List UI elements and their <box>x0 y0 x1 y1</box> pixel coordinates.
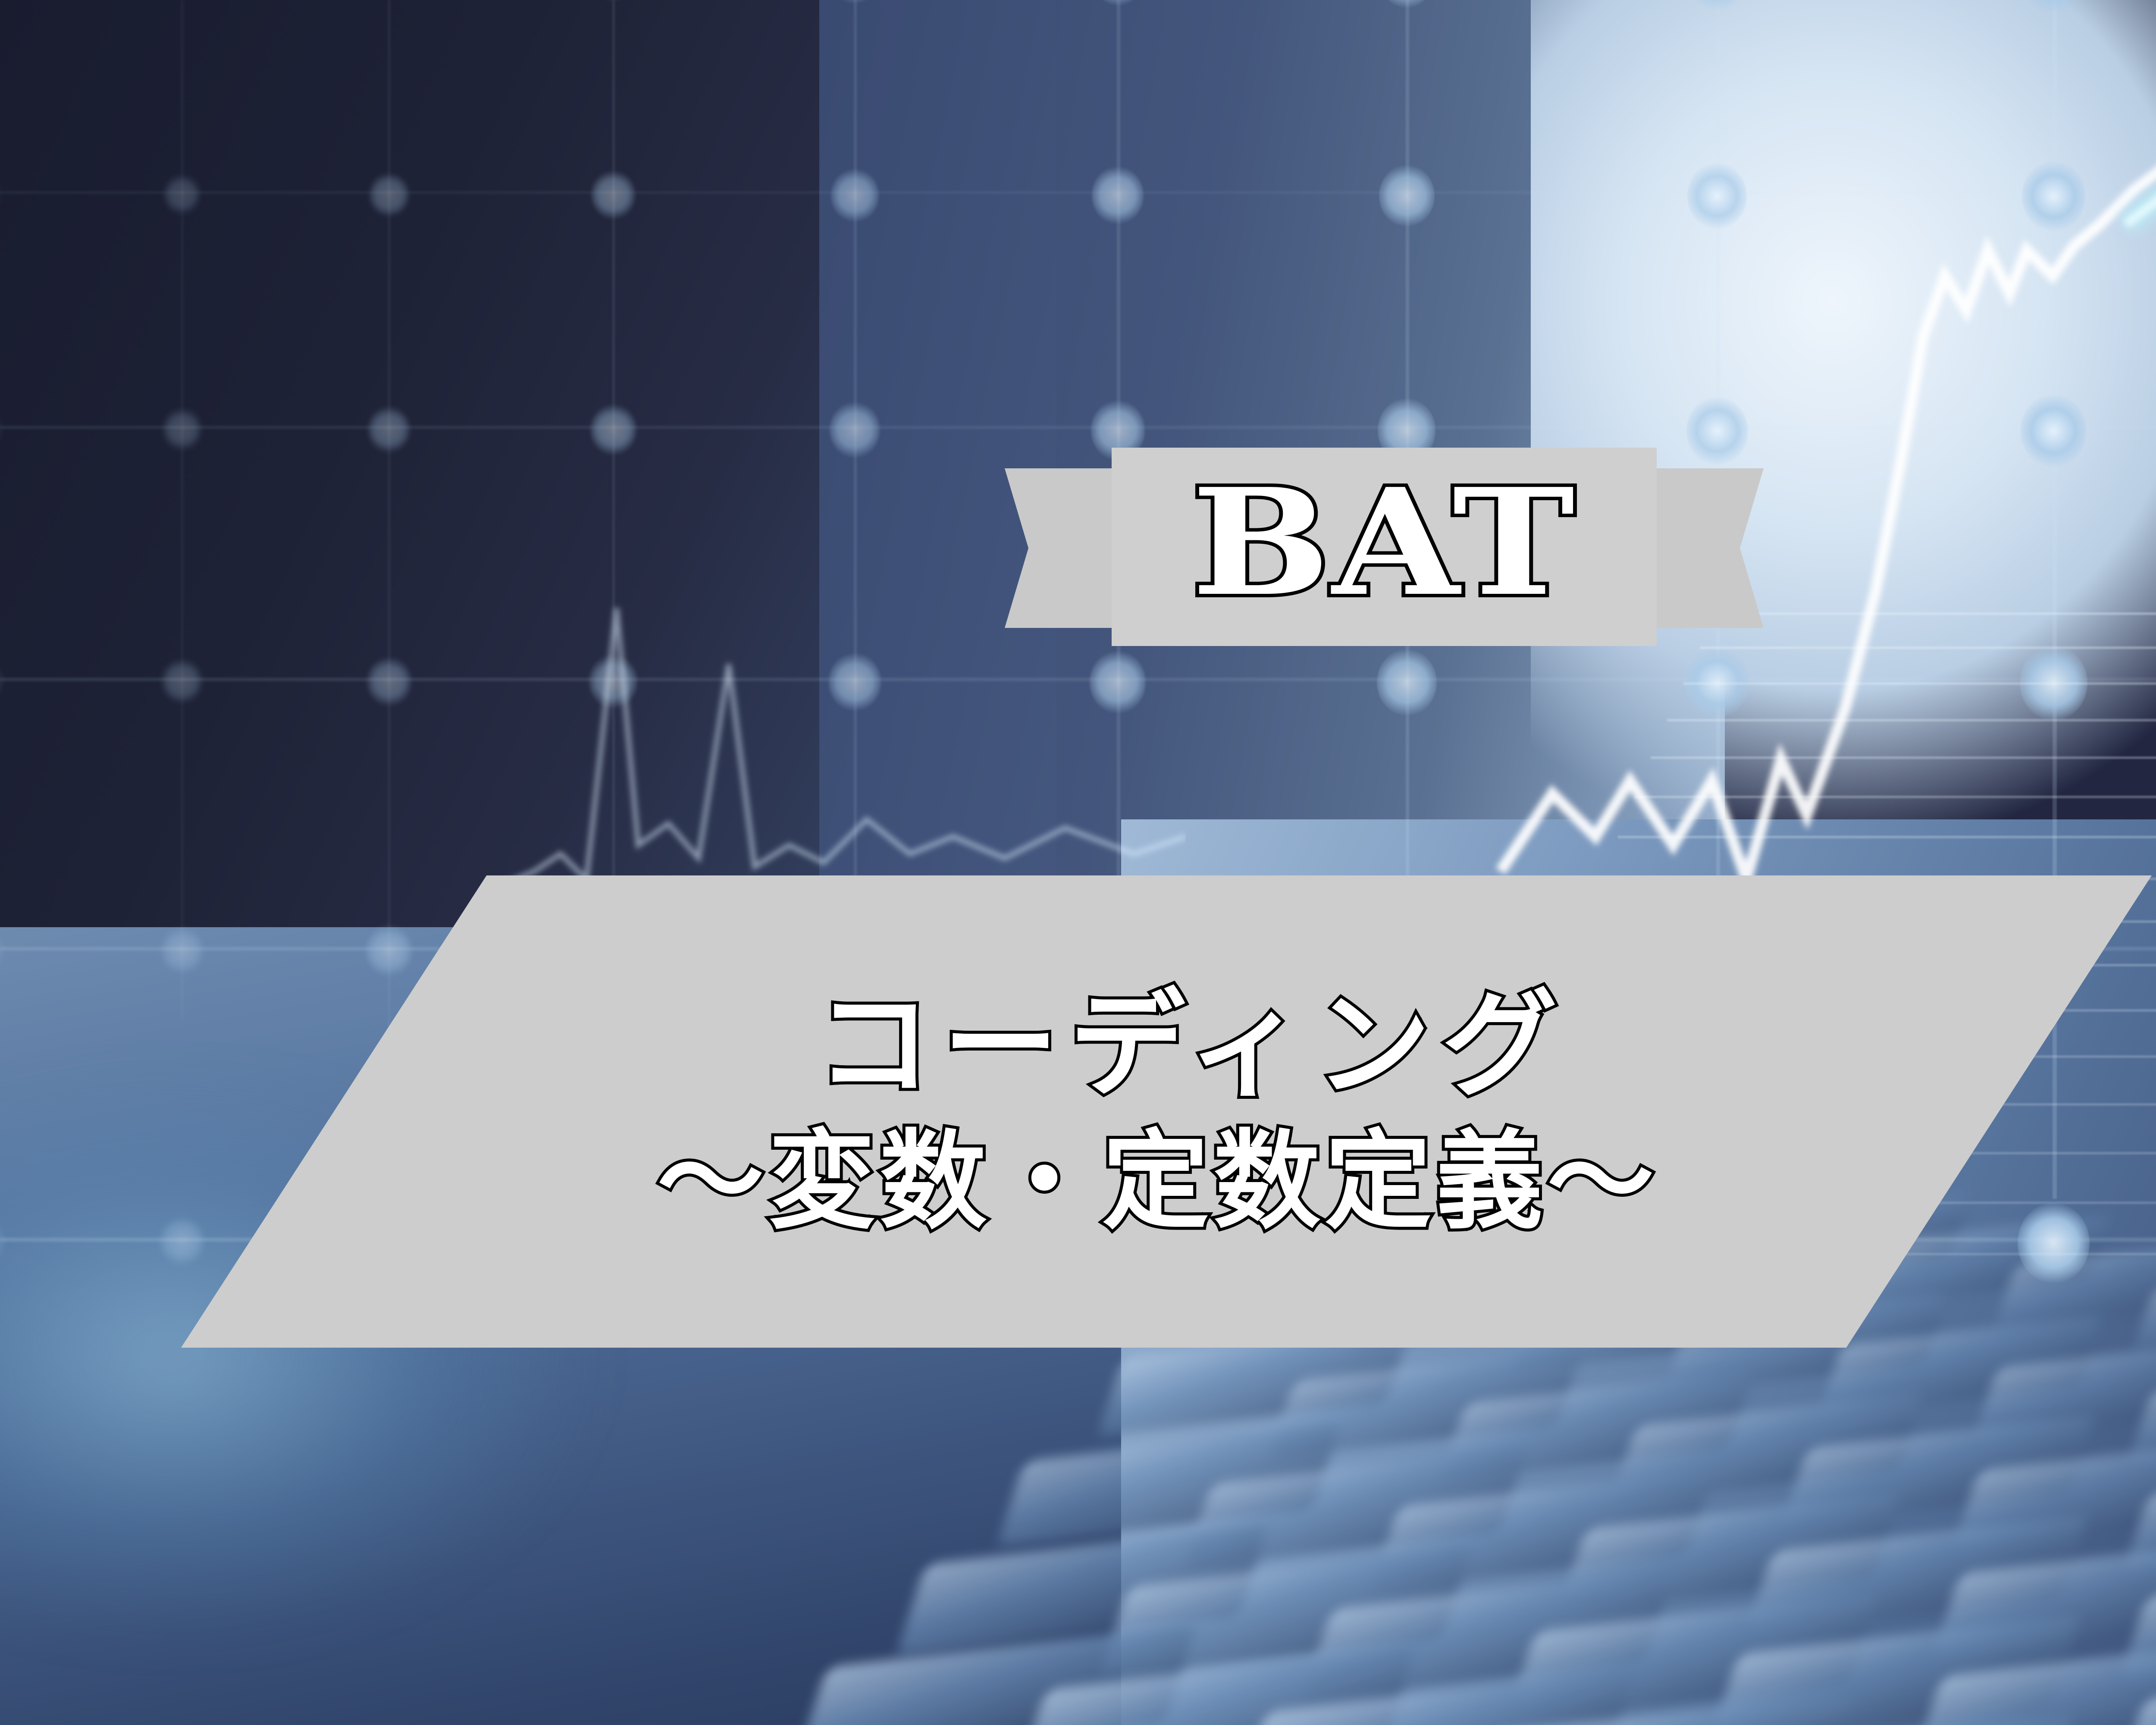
grid-node-glow <box>0 661 2 702</box>
grid-node-glow <box>1092 166 1144 224</box>
grid-node-glow <box>366 925 412 977</box>
bat-ribbon-badge: BAT <box>1005 448 1764 646</box>
grid-node-glow <box>1377 649 1437 716</box>
grid-node-glow <box>160 1216 204 1266</box>
grid-node-glow <box>1380 0 1433 8</box>
badge-label: BAT <box>1191 470 1576 616</box>
grid-node-glow <box>831 169 879 222</box>
grid-node-glow <box>0 928 3 972</box>
grid-node-glow <box>367 657 411 706</box>
grid-node-glow <box>164 174 200 215</box>
grid-node-glow <box>592 0 634 1</box>
grid-node-glow <box>163 408 201 451</box>
ribbon-tail-right <box>1656 468 1764 628</box>
grid-line-vertical <box>388 0 390 1044</box>
grid-node-glow <box>0 410 1 448</box>
grid-node-glow <box>0 1218 4 1264</box>
title-banner: コーディング 〜変数・定数定義〜 <box>181 875 2152 1348</box>
title-main-text: コーディング <box>816 983 1568 1108</box>
grid-node-glow <box>161 927 204 975</box>
ribbon-tail-left <box>1005 468 1112 628</box>
grid-node-glow <box>368 406 410 453</box>
grid-node-glow <box>1379 165 1435 227</box>
grid-node-glow <box>162 659 202 704</box>
ribbon-center-panel: BAT <box>1112 448 1657 646</box>
grid-node-glow <box>369 172 409 217</box>
grid-node-glow <box>1093 0 1143 6</box>
grid-node-glow <box>832 0 877 3</box>
thumbnail-canvas: BAT コーディング 〜変数・定数定義〜 <box>0 0 2156 1725</box>
title-sub-text: 〜変数・定数定義〜 <box>657 1124 1658 1240</box>
grid-node-glow <box>591 170 635 220</box>
grid-node-glow <box>2018 1203 2090 1283</box>
grid-line-vertical <box>181 0 183 1018</box>
